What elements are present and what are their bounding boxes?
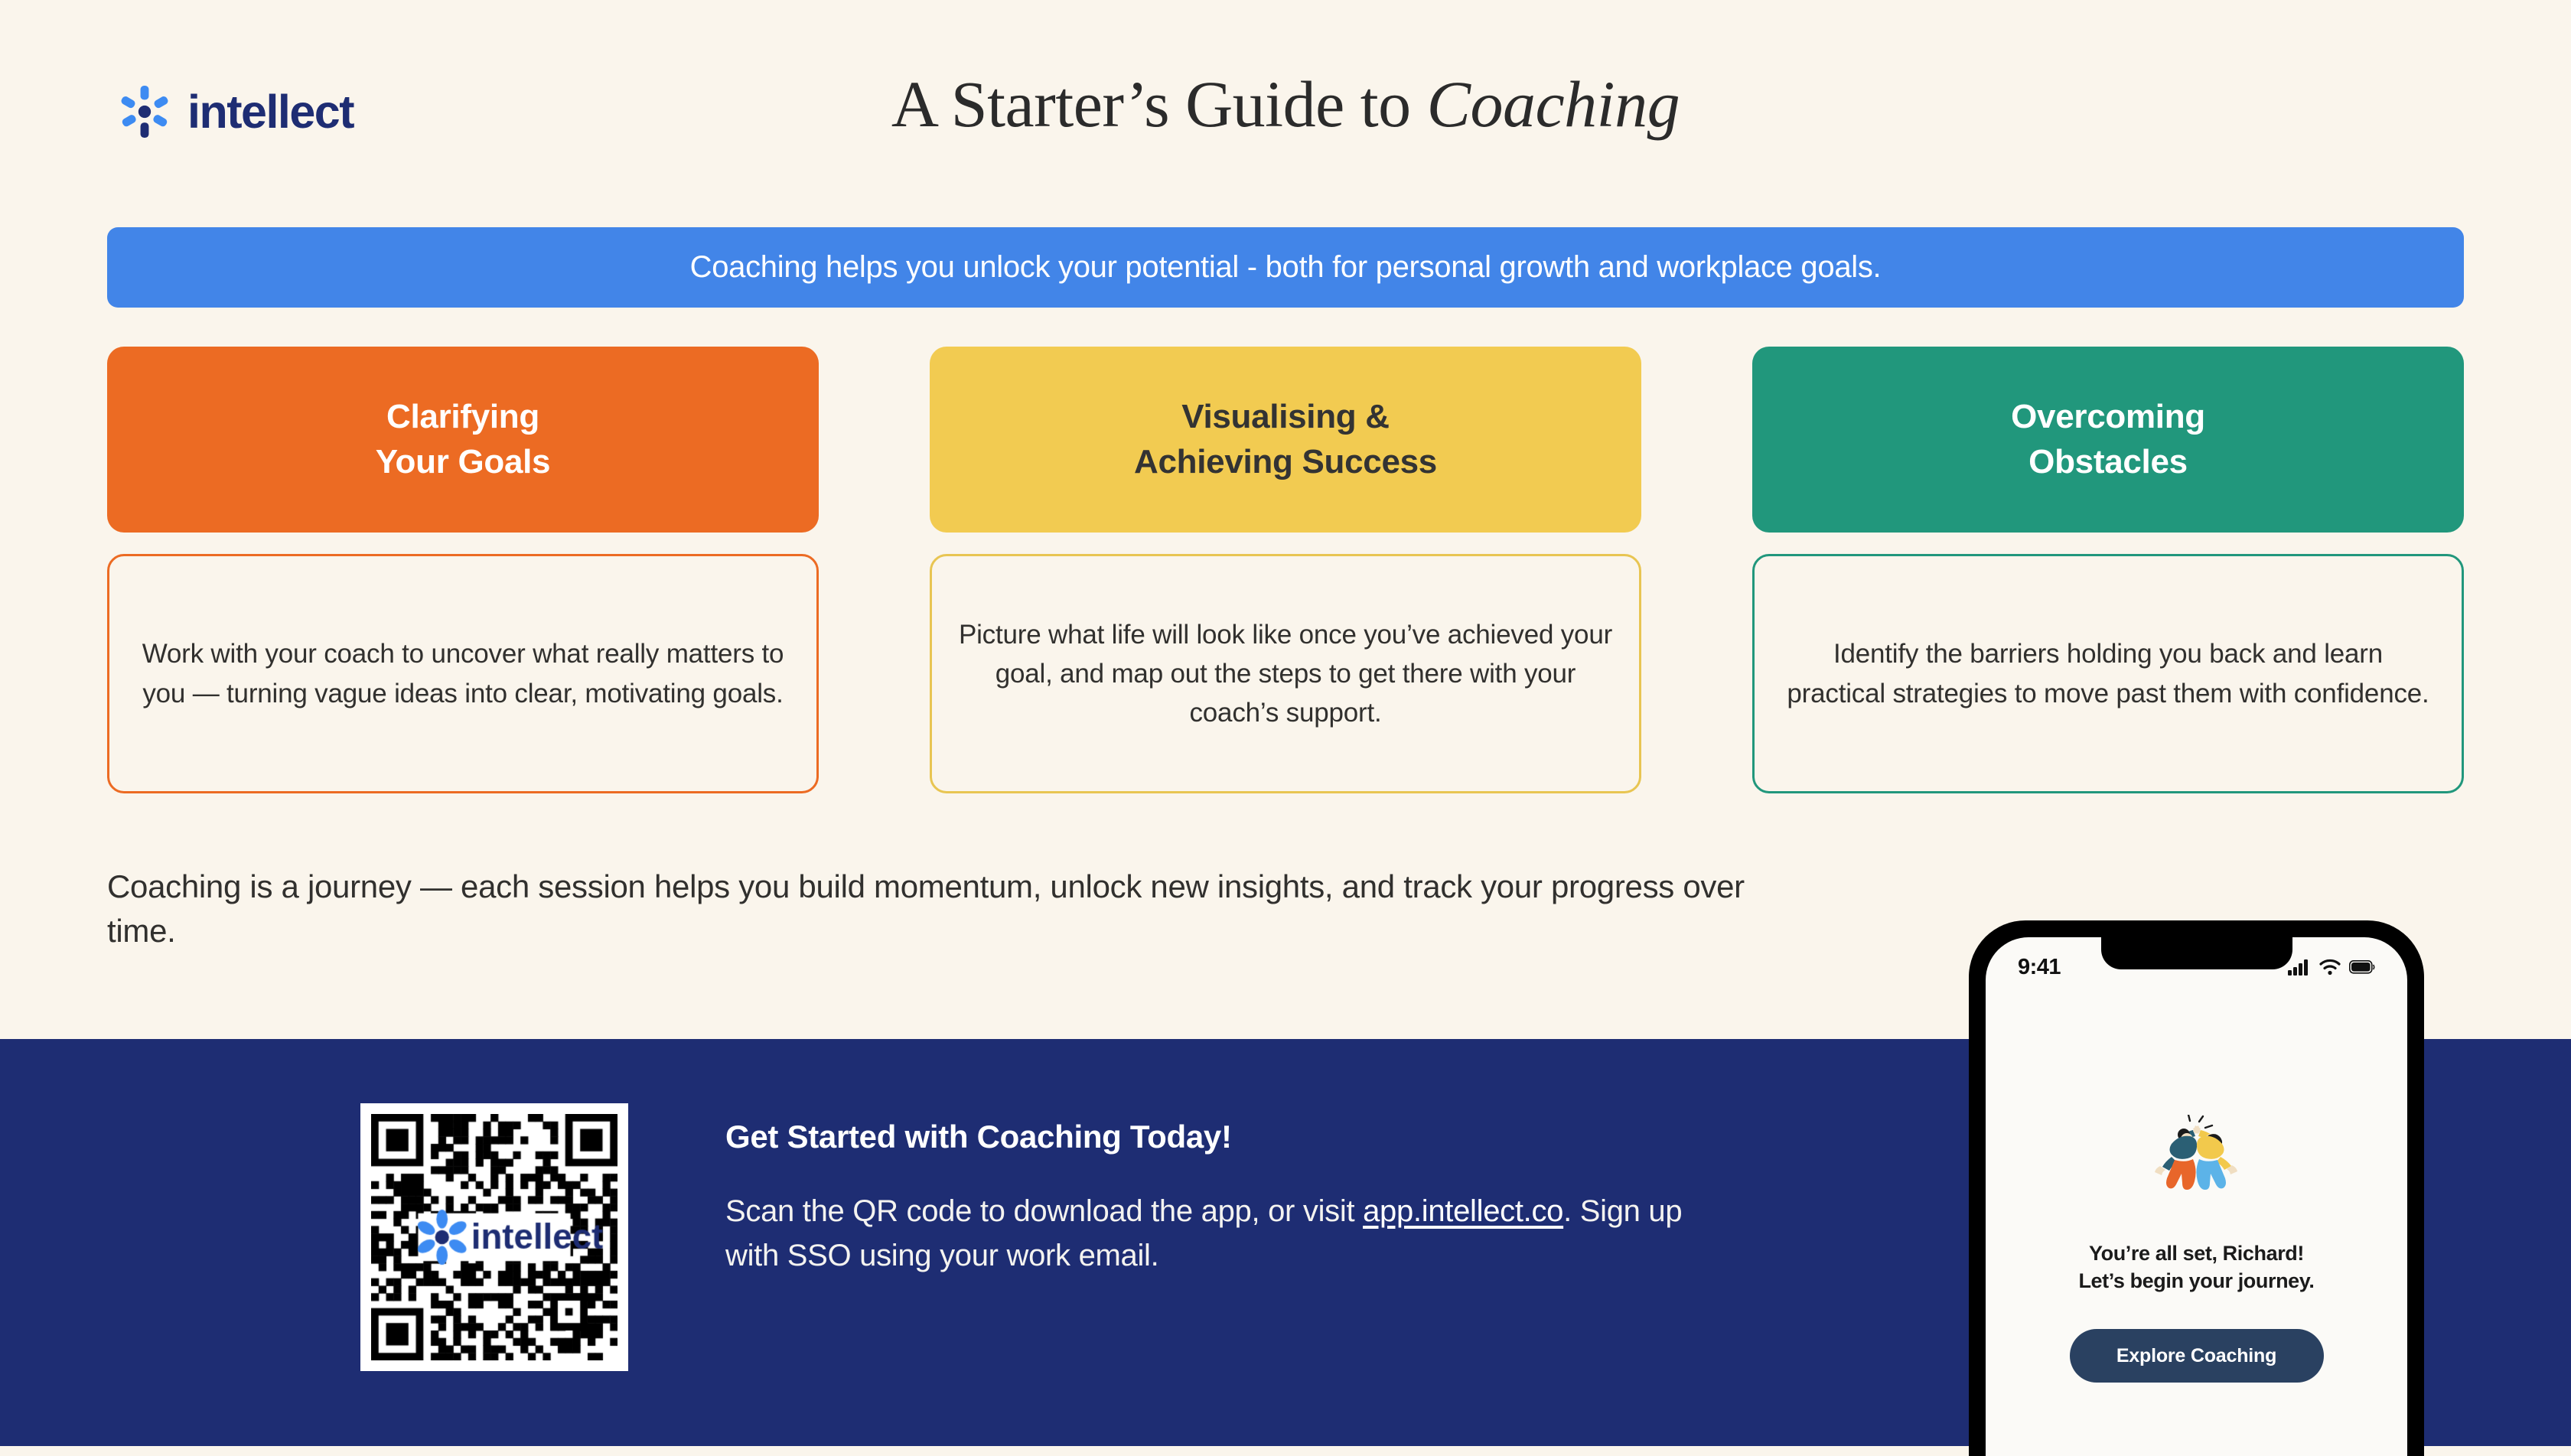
pillar-header-card: Overcoming Obstacles: [1752, 347, 2464, 533]
pillar-clarifying-goals: Clarifying Your Goals Work with your coa…: [107, 347, 819, 793]
hero-banner-text: Coaching helps you unlock your potential…: [690, 250, 1882, 285]
pillar-title-line1: Overcoming: [2011, 395, 2205, 439]
page-title-main: A Starter’s Guide to: [891, 67, 1427, 141]
cta-title: Get Started with Coaching Today!: [725, 1119, 1712, 1155]
pillar-visualising-success: Visualising & Achieving Success Picture …: [930, 347, 1641, 793]
page-title-italic: Coaching: [1427, 67, 1680, 141]
phone-heading-line2: Let’s begin your journey.: [1986, 1267, 2407, 1295]
pillar-description-card: Identify the barriers holding you back a…: [1752, 554, 2464, 793]
pillar-title-line1: Clarifying: [386, 395, 539, 439]
app-url-link[interactable]: app.intellect.co: [1363, 1194, 1563, 1228]
page-header: intellect A Starter’s Guide to Coaching: [0, 0, 2571, 218]
wifi-icon: [2319, 959, 2341, 976]
two-people-high-five-illustration: [2124, 1115, 2270, 1222]
page-title: A Starter’s Guide to Coaching: [0, 66, 2571, 142]
pillar-overcoming-obstacles: Overcoming Obstacles Identify the barrie…: [1752, 347, 2464, 793]
phone-heading: You’re all set, Richard! Let’s begin you…: [1986, 1239, 2407, 1295]
status-icons: [2288, 959, 2375, 976]
pillar-title-line1: Visualising &: [1181, 395, 1390, 439]
pillar-title-line2: Your Goals: [376, 440, 550, 484]
closing-paragraph: Coaching is a journey — each session hel…: [107, 865, 1775, 953]
cta-body: Scan the QR code to download the app, or…: [725, 1189, 1712, 1278]
phone-heading-line1: You’re all set, Richard!: [1986, 1239, 2407, 1267]
phone-mockup: 9:41: [1969, 920, 2424, 1456]
pillar-title-line2: Obstacles: [2028, 440, 2188, 484]
qr-code[interactable]: [360, 1103, 628, 1371]
hero-banner: Coaching helps you unlock your potential…: [107, 227, 2464, 308]
pillar-header-card: Visualising & Achieving Success: [930, 347, 1641, 533]
pillar-description-card: Work with your coach to uncover what rea…: [107, 554, 819, 793]
cta-block: Get Started with Coaching Today! Scan th…: [725, 1119, 1712, 1278]
phone-status-bar: 9:41: [1986, 954, 2407, 980]
pillars-row: Clarifying Your Goals Work with your coa…: [107, 347, 2464, 793]
pillar-header-card: Clarifying Your Goals: [107, 347, 819, 533]
battery-icon: [2349, 960, 2375, 974]
pillar-description-card: Picture what life will look like once yo…: [930, 554, 1641, 793]
explore-coaching-button[interactable]: Explore Coaching: [2070, 1329, 2324, 1383]
status-time: 9:41: [2018, 955, 2061, 980]
cta-text-before-link: Scan the QR code to download the app, or…: [725, 1194, 1363, 1228]
cellular-signal-icon: [2288, 959, 2311, 976]
pillar-title-line2: Achieving Success: [1134, 440, 1437, 484]
qr-code-canvas: [371, 1114, 617, 1360]
phone-screen: 9:41: [1986, 937, 2407, 1456]
